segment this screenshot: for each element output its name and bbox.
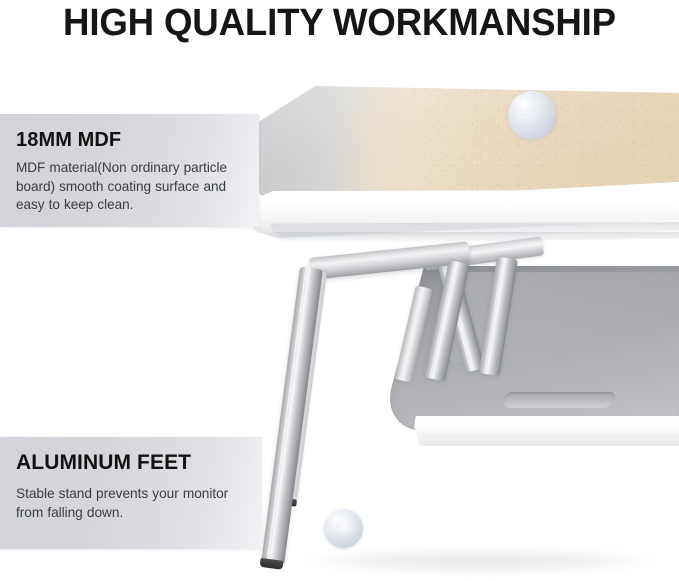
shelf-notch <box>502 392 616 408</box>
desktop-top-sheen <box>255 86 679 204</box>
callout-title-mdf: 18MM MDF <box>16 128 245 152</box>
callout-body-mdf: MDF material(Non ordinary particle board… <box>16 159 245 215</box>
callout-title-aluminum-feet: ALUMINUM FEET <box>16 451 248 475</box>
desktop-underside <box>263 232 679 244</box>
shelf-edge-underline <box>416 437 679 446</box>
aluminum-foot-cap <box>260 558 284 570</box>
callout-card-aluminum-feet: ALUMINUM FEET Stable stand prevents your… <box>0 437 262 549</box>
bumper-ball-lower-inner <box>336 518 357 539</box>
callout-card-mdf: 18MM MDF MDF material(Non ordinary parti… <box>0 114 259 227</box>
callout-body-aluminum-feet: Stable stand prevents your monitor from … <box>16 484 248 522</box>
front-left-leg <box>261 266 323 564</box>
infographic-canvas: HIGH QUALITY WORKMANSHIP <box>0 0 679 581</box>
mdf-desktop-board <box>255 86 679 286</box>
floor-shadow <box>300 548 660 574</box>
